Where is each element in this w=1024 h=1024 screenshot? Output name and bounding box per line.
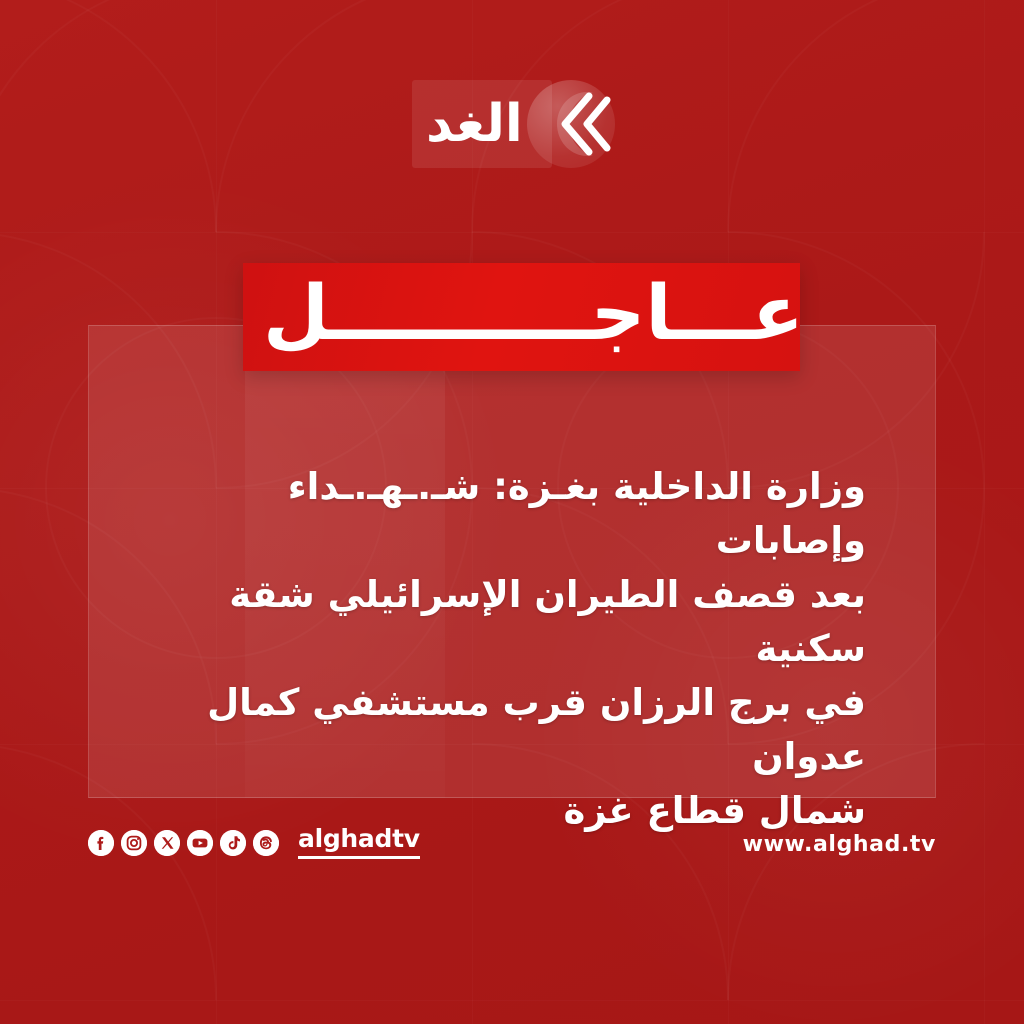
facebook-icon[interactable]	[88, 830, 114, 856]
headline-line-3: في برج الرزان قرب مستشفي كمال عدوان	[146, 676, 866, 784]
youtube-icon[interactable]	[187, 830, 213, 856]
social-links: alghadtv	[88, 826, 420, 859]
headline-line-1: وزارة الداخلية بغـزة: شـ.ـهـ.ـداء وإصابا…	[146, 460, 866, 568]
x-twitter-icon[interactable]	[154, 830, 180, 856]
tiktok-icon[interactable]	[220, 830, 246, 856]
breaking-banner-label: عـــاجــــــــــل	[263, 275, 800, 351]
channel-handle[interactable]: alghadtv	[298, 826, 420, 859]
headline-line-2: بعد قصف الطيران الإسرائيلي شقة سكنية	[146, 568, 866, 676]
instagram-icon[interactable]	[121, 830, 147, 856]
channel-logo[interactable]: الغد	[412, 80, 617, 168]
headline: وزارة الداخلية بغـزة: شـ.ـهـ.ـداء وإصابا…	[146, 460, 866, 838]
footer: alghadtv www.alghad.tv	[0, 826, 1024, 876]
breaking-banner: عـــاجــــــــــل	[243, 263, 800, 371]
threads-icon[interactable]	[253, 830, 279, 856]
logo-wordmark: الغد	[426, 98, 523, 150]
channel-handle-label: alghadtv	[298, 826, 420, 851]
alghad-chevron-mark-icon	[527, 80, 615, 168]
channel-handle-underline	[298, 856, 420, 859]
breaking-news-card: الغد عـــاجــــــــــل وزارة الداخلية بغ…	[0, 0, 1024, 1024]
website-url[interactable]: www.alghad.tv	[743, 832, 936, 857]
